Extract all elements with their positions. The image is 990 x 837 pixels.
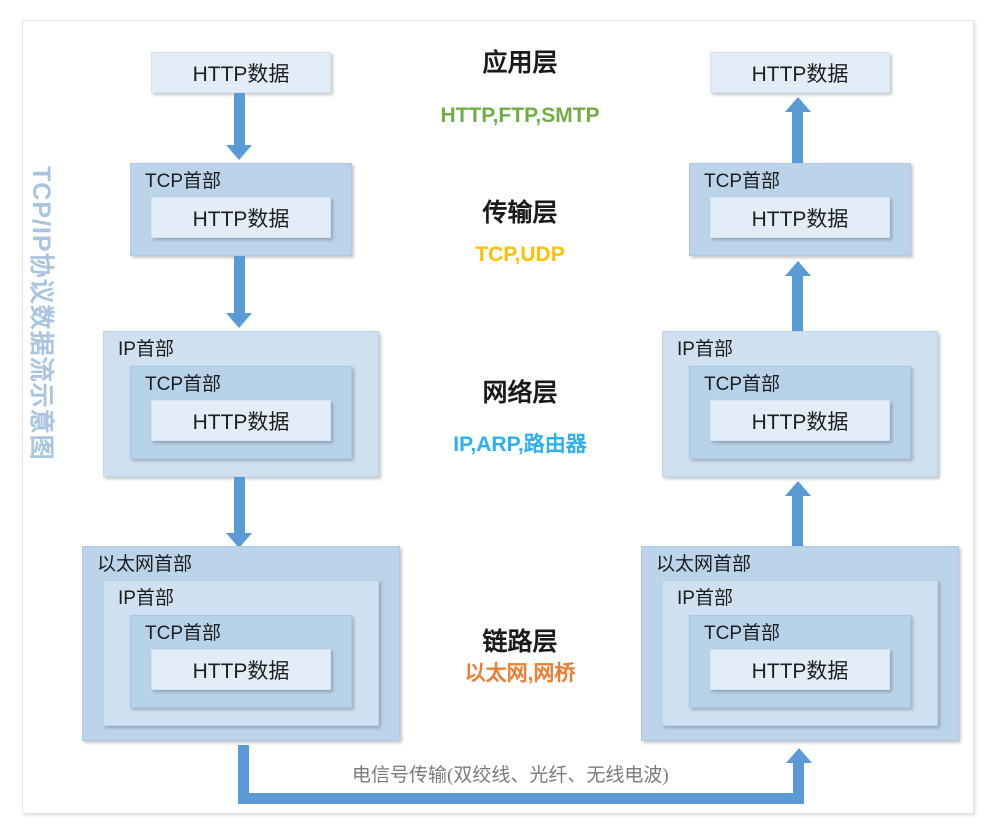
layer-protocols-link: 以太网,网桥 (390, 661, 650, 687)
left-network-ip-header-label: IP首部 (118, 338, 174, 362)
right-link-ip-header-label: IP首部 (677, 587, 733, 611)
right-transport-tcp-header-label: TCP首部 (704, 170, 780, 194)
right-application-http-data: HTTP数据 (710, 52, 890, 93)
right-arrow-network-to-transport-shaft (792, 276, 803, 331)
layer-title-network: 网络层 (390, 378, 650, 408)
left-arrow-app-to-transport-shaft (234, 93, 245, 145)
diagram-canvas: TCP/IP协议数据流示意图 HTTP数据 TCP首部 HTTP数据 IP首部 … (0, 0, 990, 837)
left-arrow-transport-to-network-head (226, 313, 252, 328)
left-transport-tcp-header-label: TCP首部 (145, 170, 221, 194)
transmission-horizontal-segment (238, 793, 804, 804)
right-link-http-data: HTTP数据 (710, 649, 890, 690)
right-arrow-network-to-transport-head (785, 261, 811, 276)
layer-title-link: 链路层 (390, 627, 650, 657)
left-link-ethernet-header-label: 以太网首部 (97, 553, 192, 577)
right-link-ethernet-header-label: 以太网首部 (656, 553, 751, 577)
right-arrow-transport-to-app-shaft (792, 112, 803, 163)
left-arrow-app-to-transport-head (226, 145, 252, 160)
transmission-arrow-head (786, 748, 812, 763)
left-arrow-transport-to-network-shaft (234, 256, 245, 313)
right-link-tcp-header-label: TCP首部 (704, 622, 780, 646)
right-arrow-link-to-network-head (785, 481, 811, 496)
layer-protocols-transport: TCP,UDP (390, 242, 650, 268)
left-network-http-data: HTTP数据 (151, 400, 331, 441)
transmission-medium-label: 电信号传输(双绞线、光纤、无线电波) (352, 760, 669, 787)
right-arrow-link-to-network-shaft (792, 496, 803, 546)
layer-protocols-network: IP,ARP,路由器 (390, 432, 650, 458)
left-link-ip-header-label: IP首部 (118, 587, 174, 611)
layer-protocols-application: HTTP,FTP,SMTP (390, 103, 650, 129)
left-link-tcp-header-label: TCP首部 (145, 622, 221, 646)
diagram-side-title: TCP/IP协议数据流示意图 (24, 166, 58, 566)
right-arrow-transport-to-app-head (785, 97, 811, 112)
left-arrow-network-to-link-shaft (234, 477, 245, 533)
layer-title-transport: 传输层 (390, 198, 650, 228)
transmission-right-vertical-segment (793, 763, 804, 804)
right-network-ip-header-label: IP首部 (677, 338, 733, 362)
left-application-http-data: HTTP数据 (151, 52, 331, 93)
layer-title-application: 应用层 (390, 48, 650, 78)
left-link-http-data: HTTP数据 (151, 649, 331, 690)
left-transport-http-data: HTTP数据 (151, 197, 331, 238)
right-transport-http-data: HTTP数据 (710, 197, 890, 238)
left-network-tcp-header-label: TCP首部 (145, 373, 221, 397)
right-network-tcp-header-label: TCP首部 (704, 373, 780, 397)
right-network-http-data: HTTP数据 (710, 400, 890, 441)
